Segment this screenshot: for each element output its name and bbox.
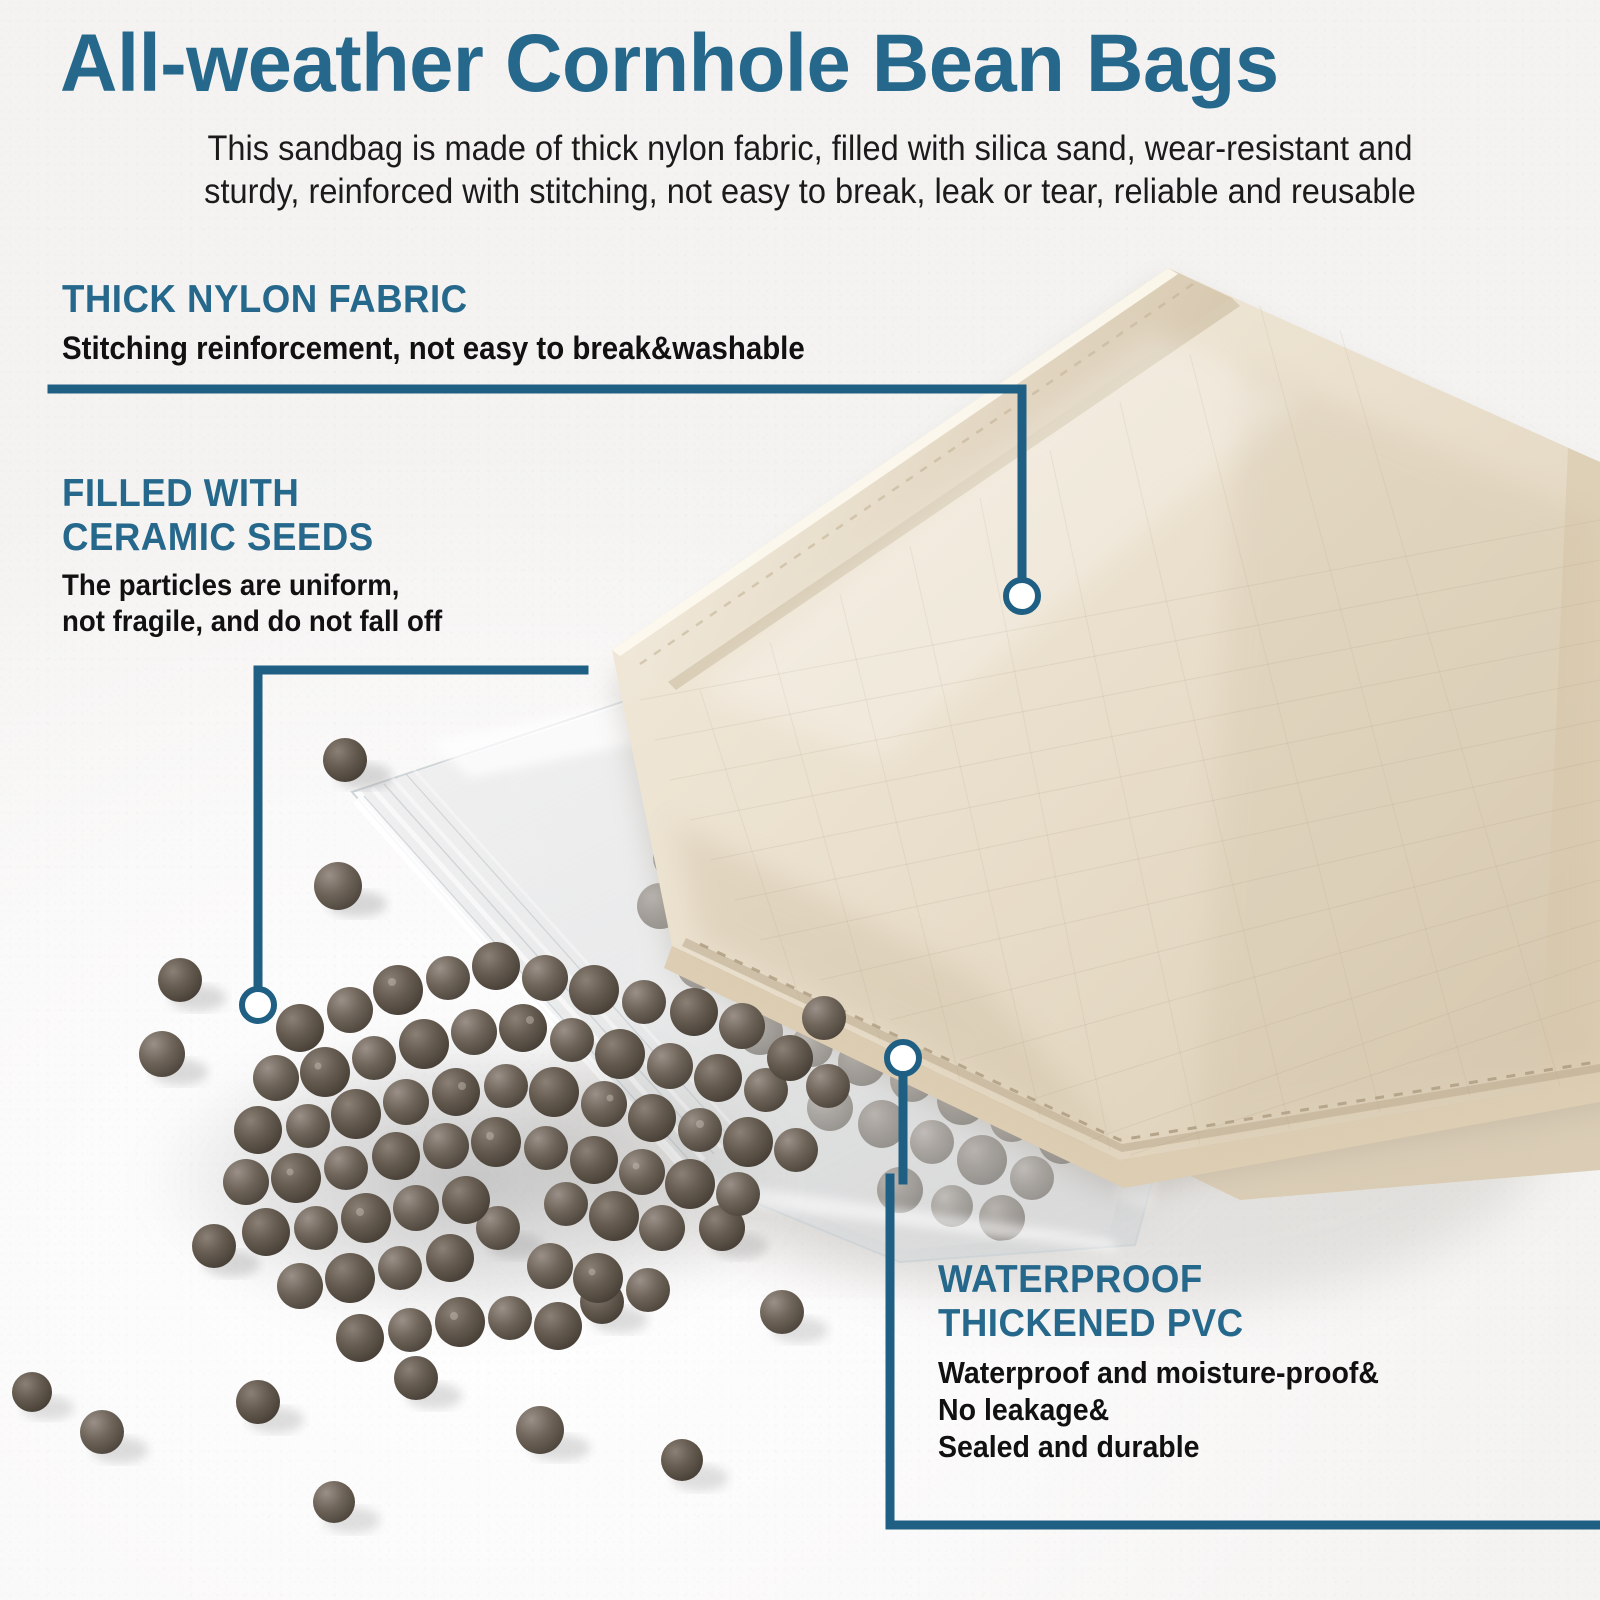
page-subtitle: This sandbag is made of thick nylon fabr… bbox=[122, 128, 1498, 213]
callout-heading: WATERPROOF THICKENED PVC bbox=[938, 1258, 1389, 1345]
page-title-strong: All-weather Cornhole bbox=[60, 18, 850, 109]
infographic-canvas: All-weather Cornhole Bean Bags This sand… bbox=[0, 0, 1600, 1600]
marker-thick-nylon-fabric[interactable] bbox=[1003, 577, 1041, 615]
callout-filled-with-ceramic-seeds: FILLED WITH CERAMIC SEEDS The particles … bbox=[62, 472, 475, 639]
marker-waterproof-pvc[interactable] bbox=[884, 1039, 922, 1077]
callout-heading: FILLED WITH CERAMIC SEEDS bbox=[62, 472, 450, 559]
callout-body: Stitching reinforcement, not easy to bre… bbox=[62, 330, 805, 368]
page-title-rest: Bean Bags bbox=[850, 18, 1278, 109]
callout-waterproof-thickened-pvc: WATERPROOF THICKENED PVC Waterproof and … bbox=[938, 1258, 1417, 1465]
callout-body: The particles are uniform, not fragile, … bbox=[62, 568, 442, 639]
page-title: All-weather Cornhole Bean Bags bbox=[60, 22, 1515, 106]
marker-ceramic-seeds[interactable] bbox=[239, 986, 277, 1024]
callout-heading: THICK NYLON FABRIC bbox=[62, 278, 821, 322]
page-subtitle-line-1: This sandbag is made of thick nylon fabr… bbox=[122, 128, 1498, 171]
callout-thick-nylon-fabric: THICK NYLON FABRIC Stitching reinforceme… bbox=[62, 278, 869, 367]
page-subtitle-line-2: sturdy, reinforced with stitching, not e… bbox=[122, 171, 1498, 214]
callout-body: Waterproof and moisture-proof& No leakag… bbox=[938, 1355, 1379, 1465]
